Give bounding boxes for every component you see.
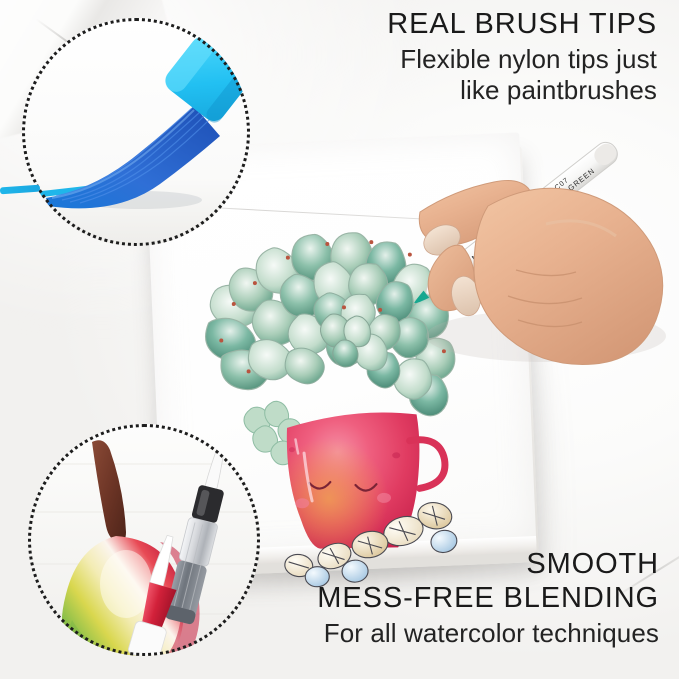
headline-real-brush-tips: REAL BRUSH TIPS — [257, 8, 657, 41]
feature-copy-top: REAL BRUSH TIPS Flexible nylon tips just… — [257, 8, 657, 105]
feature-copy-bottom: SMOOTH MESS-FREE BLENDING For all waterc… — [219, 548, 659, 649]
subline-line-1: Flexible nylon tips just — [400, 44, 657, 74]
subline-real-brush-tips: Flexible nylon tips just like paintbrush… — [257, 44, 657, 105]
product-feature-graphic: 610C07 PERSIAN GREEN MATEK — [0, 0, 679, 679]
headline-line-2: MESS-FREE BLENDING — [317, 582, 659, 614]
headline-line-1: SMOOTH — [526, 548, 659, 580]
subline-smooth-blending: For all watercolor techniques — [219, 618, 659, 649]
inset-brush-tip — [22, 18, 250, 246]
hand-holding-pen: 610C07 PERSIAN GREEN MATEK — [396, 120, 679, 370]
inset-brush-tip-photo — [22, 18, 250, 246]
subline-line-2: like paintbrushes — [460, 75, 657, 105]
headline-smooth-blending: SMOOTH MESS-FREE BLENDING — [219, 548, 659, 615]
